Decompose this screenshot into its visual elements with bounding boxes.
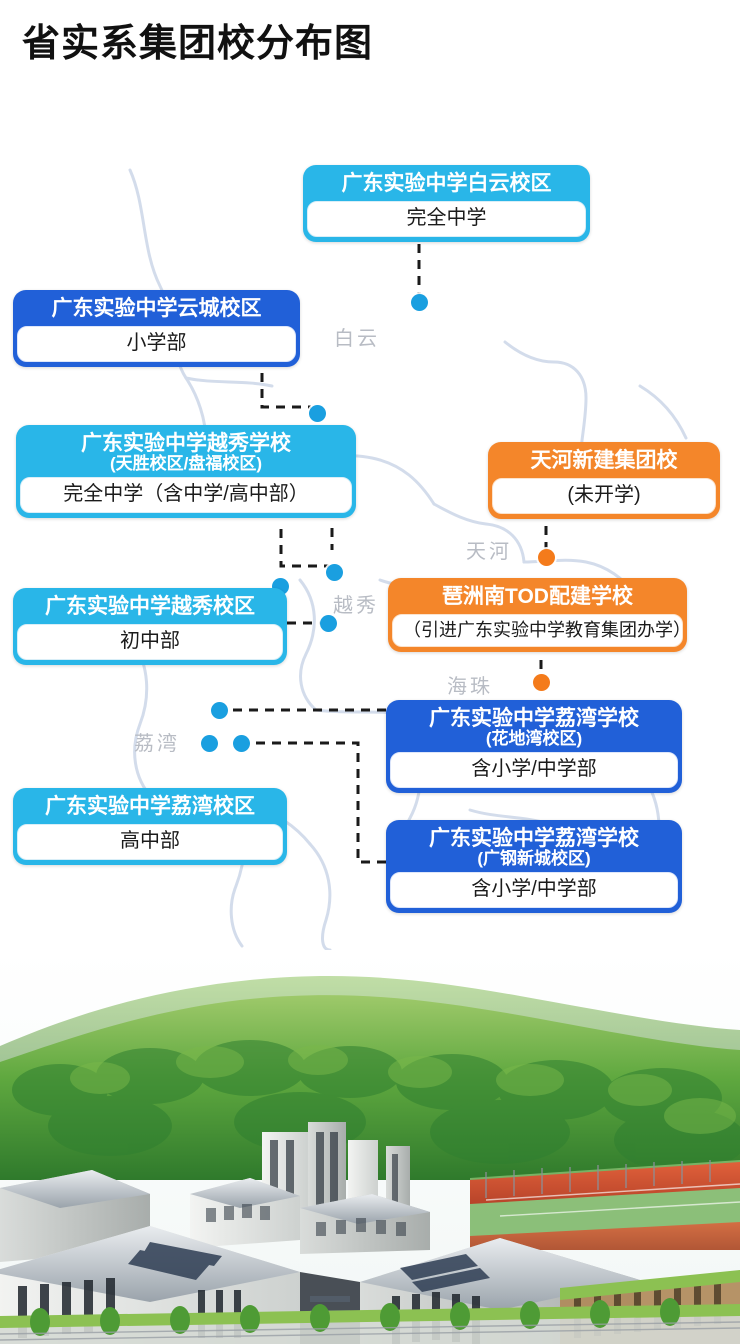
map-stage: 白云 天河 越秀 海珠 荔湾 广东实验中学白云校区 完全中学 广东实验中学云城校… — [0, 110, 740, 950]
map-dot-pazhou-tod[interactable] — [533, 674, 550, 691]
callout-liwan-huadiwan-subtitle: (花地湾校区) — [400, 730, 668, 748]
map-dot-yuexiu-school[interactable] — [326, 564, 343, 581]
callout-pazhou-tod-body: （引进广东实验中学教育集团办学） — [392, 614, 683, 648]
callout-pazhou-tod[interactable]: 琶洲南TOD配建学校 （引进广东实验中学教育集团办学） — [388, 578, 687, 652]
callout-yuncheng-campus-body: 小学部 — [17, 326, 296, 362]
callout-liwan-campus-title: 广东实验中学荔湾校区 — [17, 792, 283, 824]
map-dot-yuncheng-campus[interactable] — [309, 405, 326, 422]
callout-liwan-huadiwan-title: 广东实验中学荔湾学校 (花地湾校区) — [390, 704, 678, 752]
callout-liwan-huadiwan-body: 含小学/中学部 — [390, 752, 678, 788]
connector-yuexiu-school — [281, 529, 329, 566]
callout-yuncheng-campus[interactable]: 广东实验中学云城校区 小学部 — [13, 290, 300, 367]
map-dot-baiyun-campus[interactable] — [411, 294, 428, 311]
callout-yuexiu-school-title-main: 广东实验中学越秀学校 — [81, 432, 291, 455]
callout-baiyun-campus-title: 广东实验中学白云校区 — [307, 169, 586, 201]
district-label-baiyun: 白云 — [334, 322, 380, 351]
callout-liwan-campus[interactable]: 广东实验中学荔湾校区 高中部 — [13, 788, 287, 865]
map-dot-liwan-guangang[interactable] — [233, 735, 250, 752]
district-label-tianhe: 天河 — [466, 535, 512, 564]
callout-liwan-huadiwan[interactable]: 广东实验中学荔湾学校 (花地湾校区) 含小学/中学部 — [386, 700, 682, 793]
callout-liwan-huadiwan-title-main: 广东实验中学荔湾学校 — [429, 707, 639, 730]
page-title: 省实系集团校分布图 — [22, 22, 373, 68]
callout-yuexiu-campus-body: 初中部 — [17, 624, 283, 660]
callout-yuncheng-campus-title: 广东实验中学云城校区 — [17, 294, 296, 326]
callout-pazhou-tod-title: 琶洲南TOD配建学校 — [392, 582, 683, 614]
callout-tianhe-new-body: (未开学) — [492, 478, 716, 514]
map-dot-yuexiu-campus[interactable] — [320, 615, 337, 632]
map-dot-tianhe-new[interactable] — [538, 549, 555, 566]
district-label-liwan: 荔湾 — [134, 727, 180, 756]
callout-liwan-guangang[interactable]: 广东实验中学荔湾学校 (广钢新城校区) 含小学/中学部 — [386, 820, 682, 913]
campus-aerial-photo — [0, 950, 740, 1344]
callout-liwan-campus-body: 高中部 — [17, 824, 283, 860]
callout-liwan-guangang-title: 广东实验中学荔湾学校 (广钢新城校区) — [390, 824, 678, 872]
callout-baiyun-campus[interactable]: 广东实验中学白云校区 完全中学 — [303, 165, 590, 242]
callout-yuexiu-school-subtitle: (天胜校区/盘福校区) — [30, 455, 342, 473]
map-dot-liwan-huadiwan[interactable] — [211, 702, 228, 719]
district-label-yuexiu: 越秀 — [333, 589, 379, 618]
callout-liwan-guangang-title-main: 广东实验中学荔湾学校 — [429, 827, 639, 850]
district-label-haizhu: 海珠 — [447, 670, 493, 699]
callout-baiyun-campus-body: 完全中学 — [307, 201, 586, 237]
campus-photo-graphic — [0, 950, 740, 1344]
callout-liwan-guangang-subtitle: (广钢新城校区) — [400, 850, 668, 868]
callout-yuexiu-school[interactable]: 广东实验中学越秀学校 (天胜校区/盘福校区) 完全中学（含中学/高中部） — [16, 425, 356, 518]
callout-tianhe-new-title: 天河新建集团校 — [492, 446, 716, 478]
callout-tianhe-new[interactable]: 天河新建集团校 (未开学) — [488, 442, 720, 519]
callout-yuexiu-school-body: 完全中学（含中学/高中部） — [20, 477, 352, 513]
map-dot-liwan-campus[interactable] — [201, 735, 218, 752]
callout-yuexiu-campus-title: 广东实验中学越秀校区 — [17, 592, 283, 624]
callout-liwan-guangang-body: 含小学/中学部 — [390, 872, 678, 908]
callout-yuexiu-campus[interactable]: 广东实验中学越秀校区 初中部 — [13, 588, 287, 665]
callout-yuexiu-school-title: 广东实验中学越秀学校 (天胜校区/盘福校区) — [20, 429, 352, 477]
